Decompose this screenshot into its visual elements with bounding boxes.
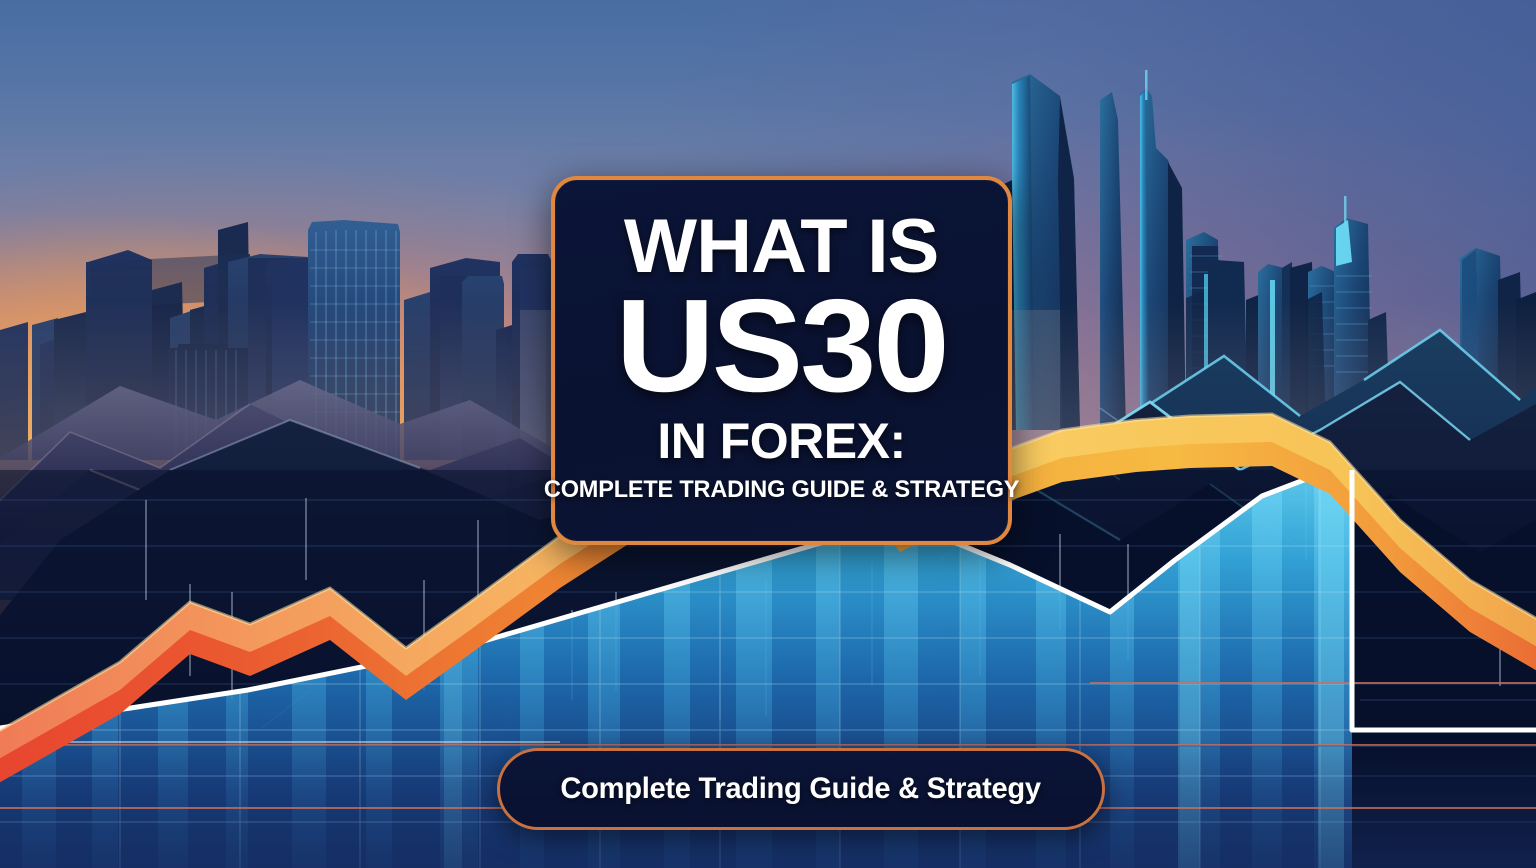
bottom-banner[interactable]: Complete Trading Guide & Strategy	[497, 748, 1105, 830]
title-subtitle: COMPLETE TRADING GUIDE & STRATEGY	[544, 478, 1019, 503]
bottom-banner-label: Complete Trading Guide & Strategy	[561, 772, 1041, 806]
title-line-3: IN FOREX:	[657, 416, 905, 466]
hero-banner: WHAT IS US30 IN FOREX: COMPLETE TRADING …	[0, 0, 1536, 868]
title-card: WHAT IS US30 IN FOREX: COMPLETE TRADING …	[551, 176, 1012, 545]
title-line-2: US30	[616, 284, 947, 408]
